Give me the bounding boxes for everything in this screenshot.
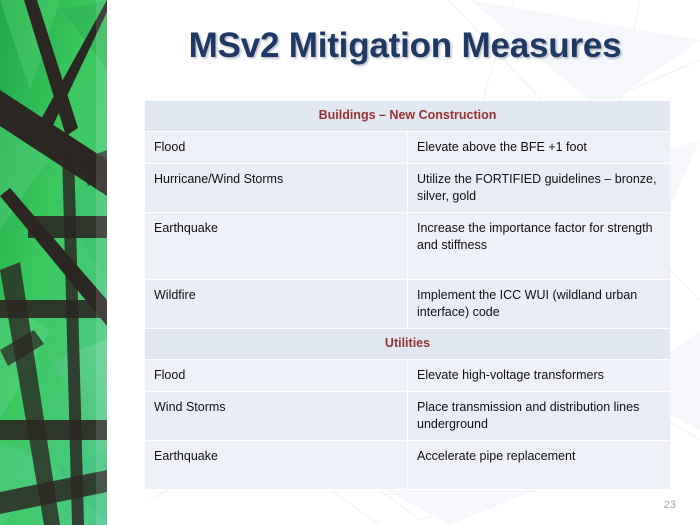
- table-body: Buildings – New Construction Flood Eleva…: [145, 101, 670, 490]
- measure-cell: Increase the importance factor for stren…: [408, 213, 671, 280]
- hazard-cell: Wildfire: [145, 280, 408, 329]
- table-row: Earthquake Increase the importance facto…: [145, 213, 670, 280]
- table-row: Wildfire Implement the ICC WUI (wildland…: [145, 280, 670, 329]
- table-row: Earthquake Accelerate pipe replacement: [145, 441, 670, 490]
- slide-canvas: MSv2 Mitigation Measures Buildings – New…: [0, 0, 700, 525]
- mitigation-table-container: Buildings – New Construction Flood Eleva…: [145, 100, 670, 490]
- table-row: Hurricane/Wind Storms Utilize the FORTIF…: [145, 164, 670, 213]
- measure-cell: Implement the ICC WUI (wildland urban in…: [408, 280, 671, 329]
- table-section-header-row: Buildings – New Construction: [145, 101, 670, 132]
- section-header-buildings: Buildings – New Construction: [145, 101, 670, 132]
- hazard-cell: Flood: [145, 359, 408, 392]
- hazard-cell: Earthquake: [145, 213, 408, 280]
- green-abstract-graphic: [0, 0, 107, 525]
- table-row: Flood Elevate above the BFE +1 foot: [145, 131, 670, 164]
- measure-cell: Elevate above the BFE +1 foot: [408, 131, 671, 164]
- table-section-header-row: Utilities: [145, 329, 670, 360]
- hazard-cell: Wind Storms: [145, 392, 408, 441]
- measure-cell: Elevate high-voltage transformers: [408, 359, 671, 392]
- mitigation-measures-table: Buildings – New Construction Flood Eleva…: [145, 100, 670, 490]
- measure-cell: Place transmission and distribution line…: [408, 392, 671, 441]
- hazard-cell: Hurricane/Wind Storms: [145, 164, 408, 213]
- section-header-utilities: Utilities: [145, 329, 670, 360]
- measure-cell: Utilize the FORTIFIED guidelines – bronz…: [408, 164, 671, 213]
- measure-cell: Accelerate pipe replacement: [408, 441, 671, 490]
- hazard-cell: Earthquake: [145, 441, 408, 490]
- hazard-cell: Flood: [145, 131, 408, 164]
- table-row: Wind Storms Place transmission and distr…: [145, 392, 670, 441]
- page-number: 23: [664, 499, 676, 511]
- table-row: Flood Elevate high-voltage transformers: [145, 359, 670, 392]
- page-title: MSv2 Mitigation Measures: [120, 26, 690, 66]
- decorative-green-image: [0, 0, 107, 525]
